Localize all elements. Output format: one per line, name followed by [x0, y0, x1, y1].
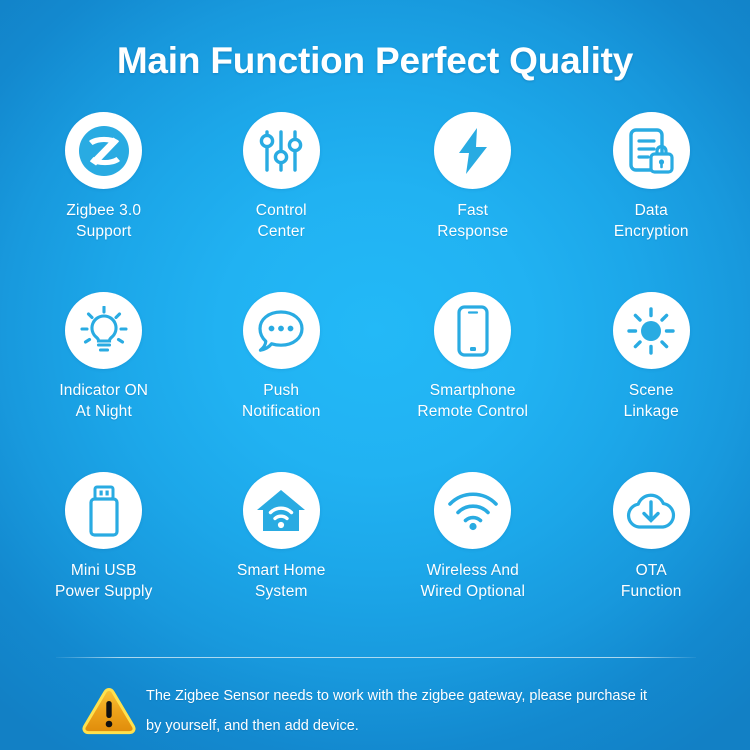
feature-label-line2: Center	[256, 221, 307, 242]
feature-item-mini-usb-power-supply[interactable]: Mini USB Power Supply	[10, 472, 198, 652]
footer-note: The Zigbee Sensor needs to work with the…	[0, 672, 750, 750]
feature-label: Mini USB Power Supply	[55, 560, 152, 602]
feature-label-line1: Control	[256, 202, 307, 219]
feature-icon-badge	[65, 472, 142, 549]
feature-item-data-encryption[interactable]: Data Encryption	[558, 112, 746, 292]
feature-label: OTA Function	[621, 560, 682, 602]
page-title: Main Function Perfect Quality	[0, 40, 750, 82]
feature-label-line1: Smartphone	[430, 382, 516, 399]
feature-label: Wireless And Wired Optional	[420, 560, 525, 602]
feature-item-wireless-and-wired-optional[interactable]: Wireless And Wired Optional	[379, 472, 567, 652]
feature-label-line1: Indicator ON	[59, 382, 148, 399]
feature-row: Indicator ON At Night	[0, 292, 750, 472]
feature-label: Scene Linkage	[624, 380, 679, 422]
feature-icon-badge	[243, 292, 320, 369]
lightning-bolt-icon	[455, 127, 491, 175]
feature-icon-badge	[243, 112, 320, 189]
feature-label: Push Notification	[242, 380, 320, 422]
house-wifi-icon	[255, 488, 307, 534]
feature-item-push-notification[interactable]: Push Notification	[188, 292, 376, 472]
feature-icon-badge	[65, 112, 142, 189]
feature-label-line2: At Night	[59, 401, 148, 422]
feature-label-line1: OTA	[636, 562, 667, 579]
feature-label: Indicator ON At Night	[59, 380, 148, 422]
feature-icon-badge	[613, 112, 690, 189]
feature-label-line2: Power Supply	[55, 581, 152, 602]
footer-note-text: The Zigbee Sensor needs to work with the…	[146, 681, 647, 741]
footer-note-line2: by yourself, and then add device.	[146, 711, 647, 741]
light-bulb-icon	[80, 306, 128, 356]
feature-label: Smartphone Remote Control	[417, 380, 528, 422]
feature-label-line2: Response	[437, 221, 508, 242]
footer-note-line1: The Zigbee Sensor needs to work with the…	[146, 681, 647, 711]
feature-item-scene-linkage[interactable]: Scene Linkage	[558, 292, 746, 472]
speech-bubble-icon	[257, 309, 305, 353]
feature-label: Control Center	[256, 200, 307, 242]
feature-label-line2: Support	[66, 221, 141, 242]
feature-label-line1: Fast	[457, 202, 488, 219]
feature-grid: Zigbee 3.0 Support	[0, 112, 750, 652]
smartphone-icon	[457, 305, 489, 357]
zigbee-logo-icon	[73, 120, 135, 182]
feature-item-zigbee-support[interactable]: Zigbee 3.0 Support	[10, 112, 198, 292]
feature-label-line1: Data	[635, 202, 668, 219]
feature-label: Data Encryption	[614, 200, 689, 242]
footer-divider	[56, 657, 696, 658]
feature-label-line2: Encryption	[614, 221, 689, 242]
feature-label-line2: Linkage	[624, 401, 679, 422]
feature-icon-badge	[65, 292, 142, 369]
feature-icon-badge	[243, 472, 320, 549]
feature-label-line1: Wireless And	[427, 562, 519, 579]
feature-label-line1: Zigbee 3.0	[66, 202, 141, 219]
sun-icon	[627, 307, 675, 355]
feature-item-smartphone-remote-control[interactable]: Smartphone Remote Control	[379, 292, 567, 472]
feature-label-line1: Mini USB	[71, 562, 137, 579]
feature-label-line1: Push	[263, 382, 299, 399]
feature-item-smart-home-system[interactable]: Smart Home System	[188, 472, 376, 652]
feature-label-line2: Notification	[242, 401, 320, 422]
feature-item-ota-function[interactable]: OTA Function	[558, 472, 746, 652]
feature-label-line2: Wired Optional	[420, 581, 525, 602]
feature-icon-badge	[434, 112, 511, 189]
feature-icon-badge	[613, 472, 690, 549]
feature-item-fast-response[interactable]: Fast Response	[379, 112, 567, 292]
document-lock-icon	[628, 127, 674, 175]
feature-label: Zigbee 3.0 Support	[66, 200, 141, 242]
feature-row: Zigbee 3.0 Support	[0, 112, 750, 292]
feature-label-line2: System	[237, 581, 326, 602]
wifi-signal-icon	[447, 491, 499, 531]
feature-label-line1: Scene	[629, 382, 674, 399]
feature-label: Smart Home System	[237, 560, 326, 602]
feature-item-indicator-on-at-night[interactable]: Indicator ON At Night	[10, 292, 198, 472]
feature-label-line1: Smart Home	[237, 562, 326, 579]
feature-icon-badge	[613, 292, 690, 369]
feature-label-line2: Function	[621, 581, 682, 602]
feature-label: Fast Response	[437, 200, 508, 242]
feature-label-line2: Remote Control	[417, 401, 528, 422]
feature-icon-badge	[434, 292, 511, 369]
feature-row: Mini USB Power Supply	[0, 472, 750, 652]
warning-triangle-icon	[78, 686, 140, 736]
sliders-control-icon	[259, 128, 303, 174]
promo-banner: Main Function Perfect Quality	[0, 0, 750, 750]
usb-connector-icon	[87, 485, 121, 537]
cloud-download-icon	[625, 491, 677, 531]
feature-icon-badge	[434, 472, 511, 549]
feature-item-control-center[interactable]: Control Center	[188, 112, 376, 292]
